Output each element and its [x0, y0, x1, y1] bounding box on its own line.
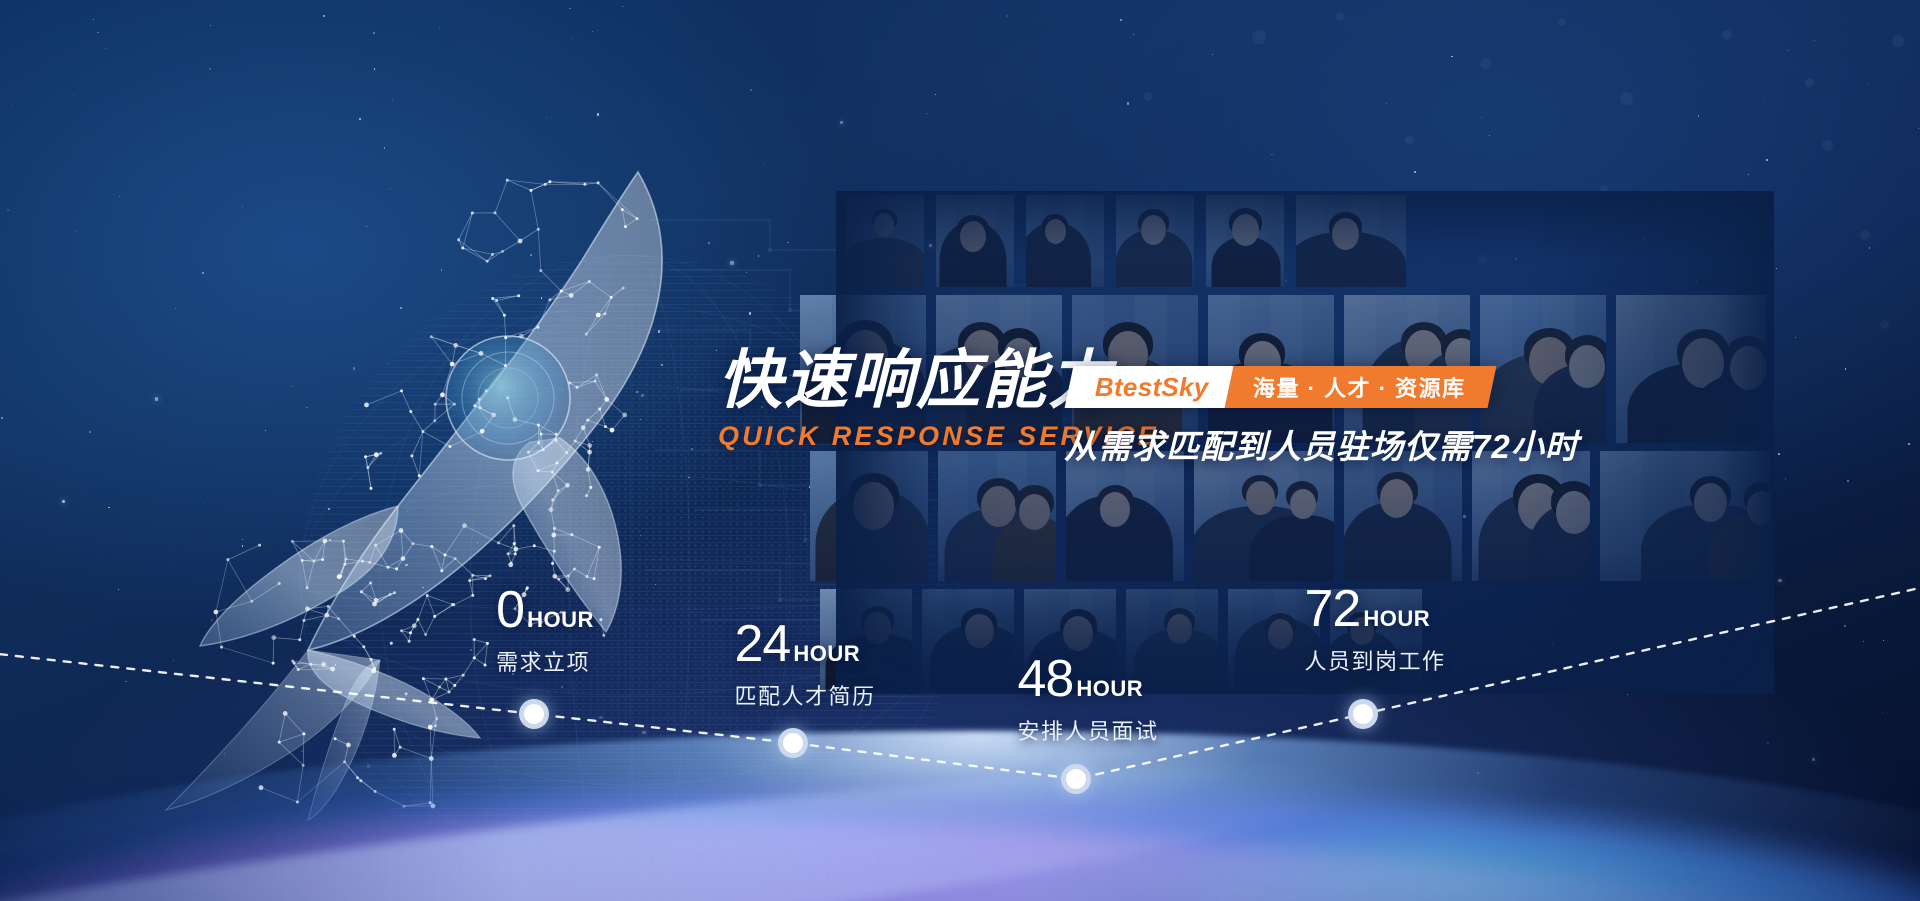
timeline-hour: 24 HOUR	[734, 618, 875, 670]
timeline-hour-unit: HOUR	[1076, 678, 1143, 700]
timeline-hour-unit: HOUR	[1363, 608, 1430, 630]
timeline-description: 匹配人才简历	[734, 679, 875, 711]
timeline-dot[interactable]	[1348, 699, 1378, 729]
aurora-horizon-icon	[0, 631, 1920, 901]
timeline-label: 0 HOUR 需求立项	[496, 584, 594, 677]
subtitle-chinese: 从需求匹配到人员驻场仅需72小时	[1064, 420, 1579, 468]
timeline-dot[interactable]	[1061, 764, 1091, 794]
brand-badge: BtestSky 海量 · 人才 · 资源库	[1069, 366, 1491, 408]
timeline-hour: 48 HOUR	[1017, 653, 1158, 705]
timeline-dot[interactable]	[778, 728, 808, 758]
timeline-dot[interactable]	[519, 699, 549, 729]
timeline-description: 安排人员面试	[1017, 714, 1158, 746]
timeline-hour: 0 HOUR	[496, 584, 594, 636]
timeline-hour-unit: HOUR	[793, 643, 860, 665]
brand-name-badge: BtestSky	[1065, 366, 1236, 408]
timeline-hour-number: 48	[1017, 653, 1073, 705]
timeline-label: 24 HOUR 匹配人才简历	[734, 618, 875, 711]
timeline-hour-number: 24	[734, 618, 790, 670]
timeline-description: 人员到岗工作	[1304, 644, 1445, 676]
timeline-hour-number: 72	[1304, 583, 1360, 635]
brand-tags-badge: 海量 · 人才 · 资源库	[1224, 366, 1496, 408]
timeline-description: 需求立项	[496, 645, 594, 677]
timeline-hour-number: 0	[496, 584, 524, 636]
timeline-label: 72 HOUR 人员到岗工作	[1304, 583, 1445, 676]
brand-tags-text: 海量 · 人才 · 资源库	[1253, 371, 1466, 403]
brand-name-text: BtestSky	[1095, 372, 1209, 403]
timeline-hour-unit: HOUR	[527, 609, 594, 631]
banner-stage: 快速响应能力 QUICK RESPONSE SERVICE BtestSky 海…	[0, 0, 1920, 901]
timeline-hour: 72 HOUR	[1304, 583, 1445, 635]
timeline-label: 48 HOUR 安排人员面试	[1017, 653, 1158, 746]
